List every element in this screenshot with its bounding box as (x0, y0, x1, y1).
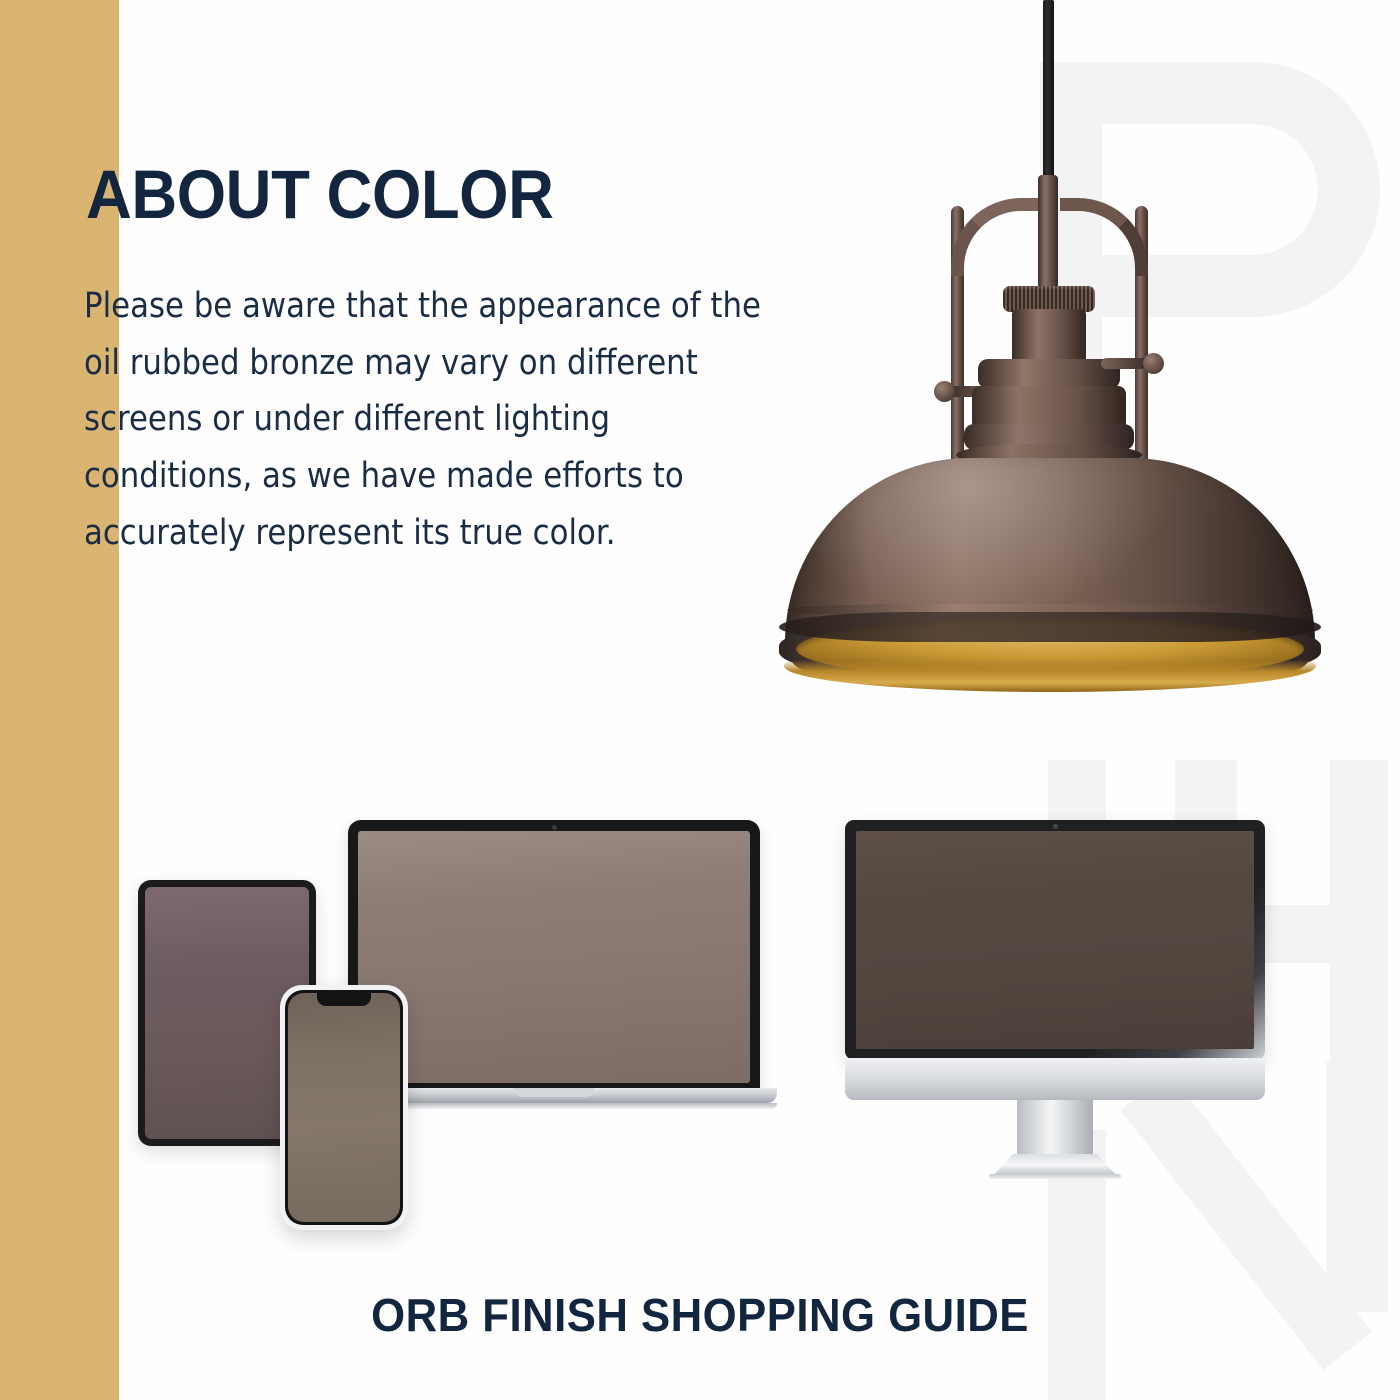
lamp-cord (1043, 0, 1054, 185)
monitor-stand-neck (1017, 1100, 1093, 1158)
description-text: Please be aware that the appearance of t… (84, 278, 779, 561)
phone-notch (317, 993, 371, 1006)
laptop-mockup (348, 820, 760, 1120)
phone-mockup (280, 985, 408, 1230)
monitor-mockup (845, 820, 1265, 1180)
lamp-stem (1038, 175, 1058, 295)
footer-caption: ORB FINISH SHOPPING GUIDE (35, 1288, 1365, 1342)
infographic-canvas: ABOUT COLOR Please be aware that the app… (0, 0, 1400, 1400)
monitor-screen (856, 831, 1254, 1049)
lamp-collar (978, 359, 1120, 389)
lamp-socket (1012, 309, 1086, 365)
device-mockup-group (0, 780, 1400, 1240)
phone-screen (288, 993, 400, 1222)
pendant-light-image (760, 0, 1380, 710)
monitor-stand-foot (993, 1154, 1117, 1176)
laptop-screen (358, 831, 750, 1083)
page-title: ABOUT COLOR (86, 160, 553, 229)
laptop-camera-icon (552, 825, 557, 830)
monitor-camera-icon (1053, 824, 1058, 829)
